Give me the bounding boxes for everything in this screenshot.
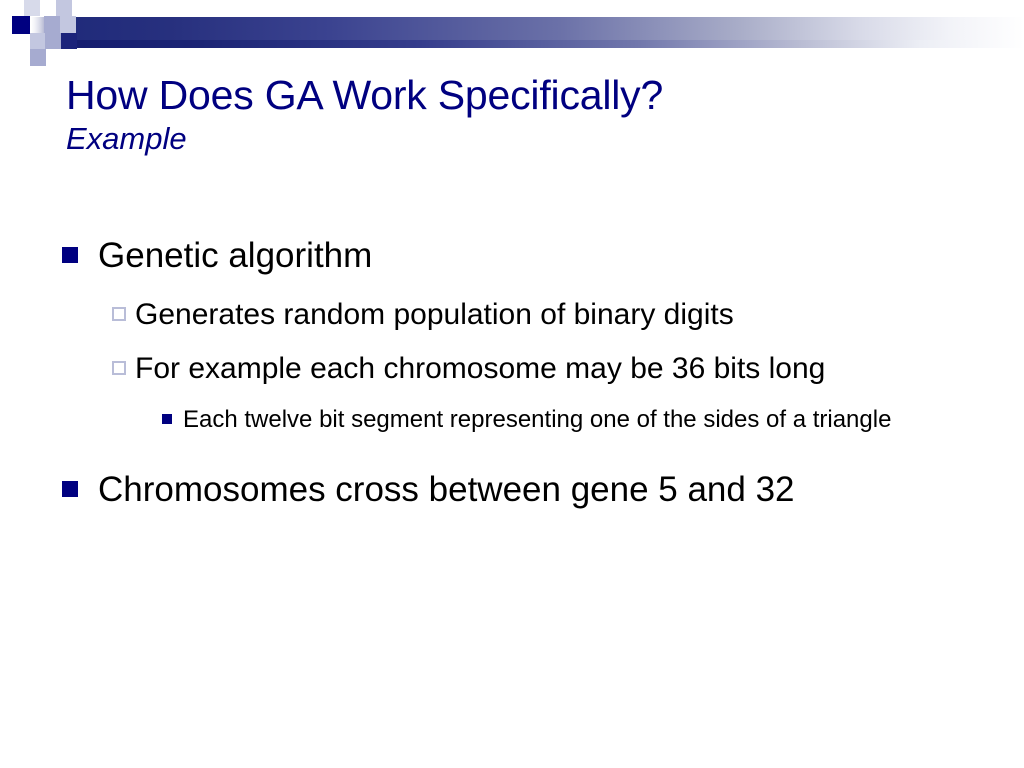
deco-square — [60, 16, 76, 33]
list-item: Generates random population of binary di… — [112, 295, 952, 335]
bullet-small-square-icon — [162, 414, 172, 424]
bullet-hollow-square-icon — [112, 361, 126, 375]
bullet-hollow-square-icon — [112, 307, 126, 321]
deco-square-accent — [12, 16, 30, 34]
deco-square — [24, 0, 40, 16]
spacer — [62, 335, 992, 349]
bullet-square-icon — [62, 481, 78, 497]
title-block: How Does GA Work Specifically? Example — [66, 72, 966, 158]
list-item: Each twelve bit segment representing one… — [162, 403, 952, 436]
bullet-square-icon — [62, 247, 78, 263]
deco-square — [61, 33, 77, 49]
header-decoration — [0, 0, 1024, 72]
spacer — [62, 389, 992, 403]
list-item: Chromosomes cross between gene 5 and 32 — [62, 466, 957, 513]
page-title: How Does GA Work Specifically? — [66, 72, 966, 118]
deco-square — [56, 0, 72, 16]
header-gradient-bar-lower — [0, 40, 1024, 48]
list-item-label: Chromosomes cross between gene 5 and 32 — [98, 466, 957, 513]
deco-square — [30, 49, 46, 66]
list-item-label: Each twelve bit segment representing one… — [183, 403, 952, 436]
spacer — [62, 279, 992, 295]
list-item: Genetic algorithm — [62, 232, 957, 279]
deco-square — [0, 16, 12, 48]
deco-square — [30, 33, 45, 49]
bullet-list: Genetic algorithm Generates random popul… — [62, 232, 992, 513]
deco-square — [45, 33, 61, 49]
list-item: For example each chromosome may be 36 bi… — [112, 349, 952, 389]
deco-square — [44, 16, 60, 33]
list-item-label: Genetic algorithm — [98, 232, 957, 279]
list-item-label: Generates random population of binary di… — [135, 295, 952, 335]
spacer — [62, 436, 992, 466]
slide: How Does GA Work Specifically? Example G… — [0, 0, 1024, 768]
list-item-label: For example each chromosome may be 36 bi… — [135, 349, 952, 389]
page-subtitle: Example — [66, 120, 966, 158]
